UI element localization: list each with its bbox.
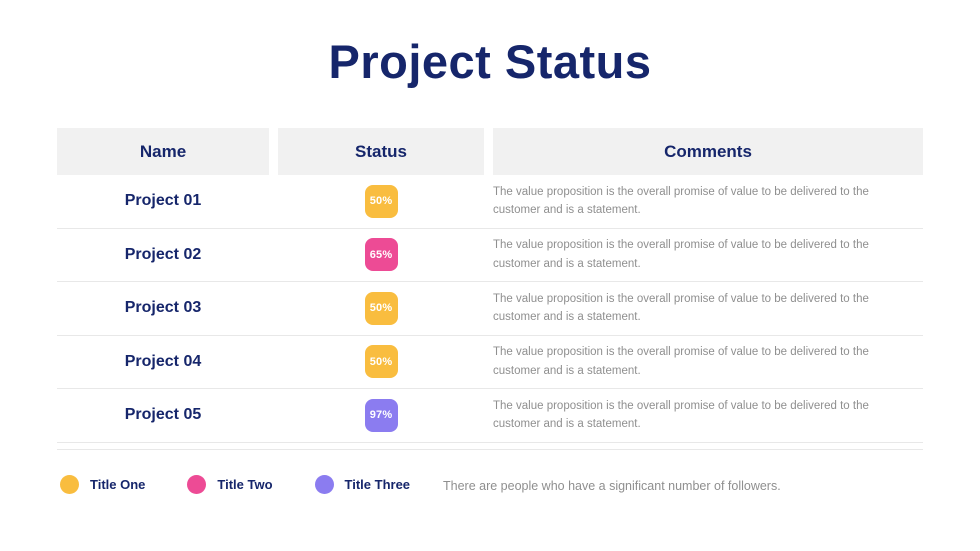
footer-divider: [57, 449, 923, 450]
legend-label: Title One: [90, 477, 145, 492]
legend-item: Title Two: [187, 475, 272, 494]
table-row: Project 0265%The value proposition is th…: [57, 229, 923, 283]
column-header-name: Name: [57, 128, 269, 175]
comment-text: The value proposition is the overall pro…: [493, 397, 923, 434]
table-row: Project 0597%The value proposition is th…: [57, 389, 923, 443]
project-name: Project 03: [57, 299, 269, 317]
footer-note: There are people who have a significant …: [443, 479, 781, 493]
legend-item: Title One: [60, 475, 145, 494]
legend-dot-icon: [187, 475, 206, 494]
legend-dot-icon: [60, 475, 79, 494]
table-row: Project 0150%The value proposition is th…: [57, 175, 923, 229]
status-badge: 50%: [365, 185, 398, 218]
page-title: Project Status: [0, 36, 980, 88]
table-body: Project 0150%The value proposition is th…: [57, 175, 923, 443]
table-row: Project 0350%The value proposition is th…: [57, 282, 923, 336]
project-name: Project 04: [57, 353, 269, 371]
slide-project-status: Project Status Name Status Comments Proj…: [0, 0, 980, 551]
status-cell: 65%: [278, 238, 484, 271]
project-status-table: Name Status Comments Project 0150%The va…: [57, 128, 923, 443]
project-name: Project 02: [57, 246, 269, 264]
comment-text: The value proposition is the overall pro…: [493, 236, 923, 273]
legend-label: Title Two: [217, 477, 272, 492]
status-badge: 50%: [365, 345, 398, 378]
status-badge: 97%: [365, 399, 398, 432]
status-badge: 50%: [365, 292, 398, 325]
status-cell: 50%: [278, 345, 484, 378]
comment-text: The value proposition is the overall pro…: [493, 290, 923, 327]
status-cell: 50%: [278, 292, 484, 325]
legend-item: Title Three: [315, 475, 411, 494]
comment-text: The value proposition is the overall pro…: [493, 183, 923, 220]
legend: Title OneTitle TwoTitle Three: [60, 475, 452, 494]
project-name: Project 05: [57, 406, 269, 424]
table-header-row: Name Status Comments: [57, 128, 923, 175]
table-row: Project 0450%The value proposition is th…: [57, 336, 923, 390]
column-header-status: Status: [278, 128, 484, 175]
column-header-comments: Comments: [493, 128, 923, 175]
project-name: Project 01: [57, 192, 269, 210]
legend-dot-icon: [315, 475, 334, 494]
comment-text: The value proposition is the overall pro…: [493, 343, 923, 380]
status-cell: 50%: [278, 185, 484, 218]
status-cell: 97%: [278, 399, 484, 432]
legend-label: Title Three: [345, 477, 411, 492]
status-badge: 65%: [365, 238, 398, 271]
